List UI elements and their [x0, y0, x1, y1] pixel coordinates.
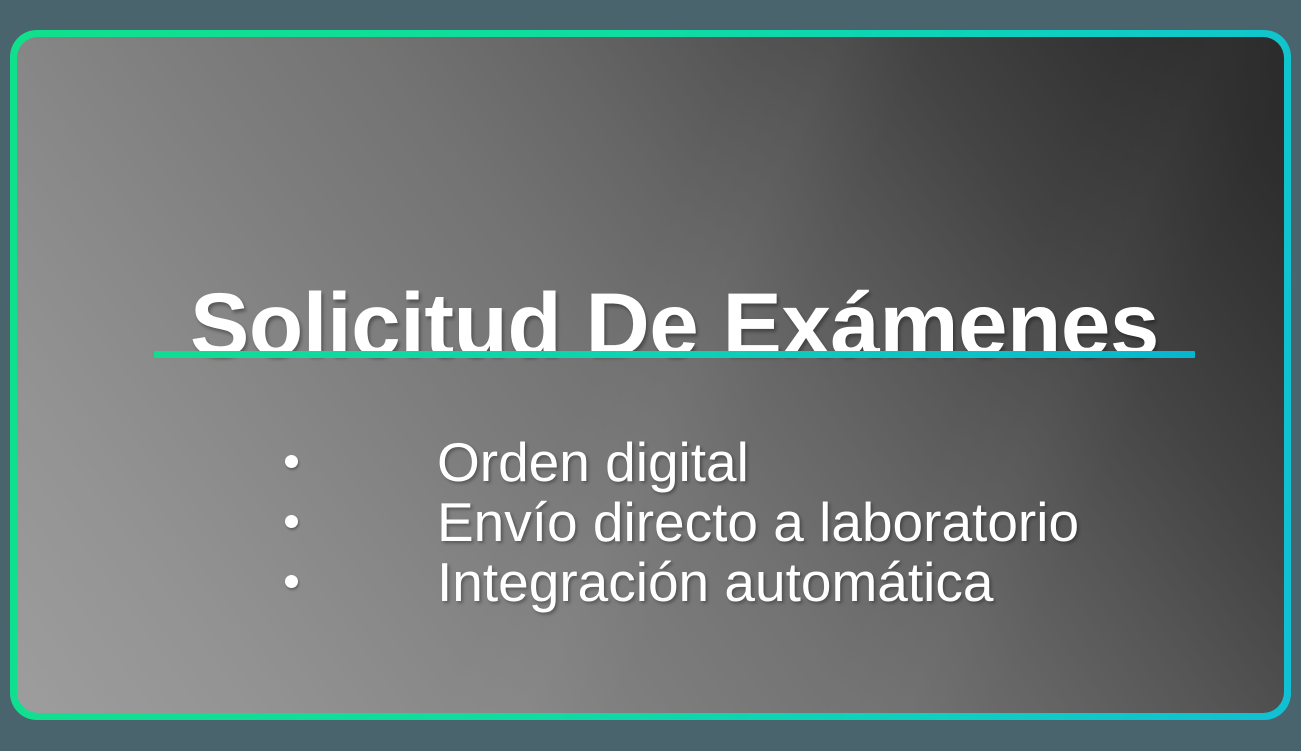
list-item: Envío directo a laboratorio: [17, 493, 1284, 553]
bullet-list: Orden digital Envío directo a laboratori…: [17, 433, 1284, 613]
slide-panel: Solicitud De Exámenes Orden digital Enví…: [17, 37, 1284, 713]
bullet-dot-icon: [285, 455, 298, 468]
list-item: Integración automática: [17, 553, 1284, 613]
list-item: Orden digital: [17, 433, 1284, 493]
list-item-label: Integración automática: [437, 553, 993, 611]
bullet-dot-icon: [285, 575, 298, 588]
slide-gradient-border-frame: Solicitud De Exámenes Orden digital Enví…: [10, 30, 1291, 720]
bullet-dot-icon: [285, 515, 298, 528]
slide-content: Solicitud De Exámenes Orden digital Enví…: [17, 37, 1284, 713]
list-item-label: Orden digital: [437, 433, 749, 491]
slide-root: Solicitud De Exámenes Orden digital Enví…: [0, 0, 1301, 751]
title-divider: [154, 351, 1195, 358]
list-item-label: Envío directo a laboratorio: [437, 493, 1079, 551]
